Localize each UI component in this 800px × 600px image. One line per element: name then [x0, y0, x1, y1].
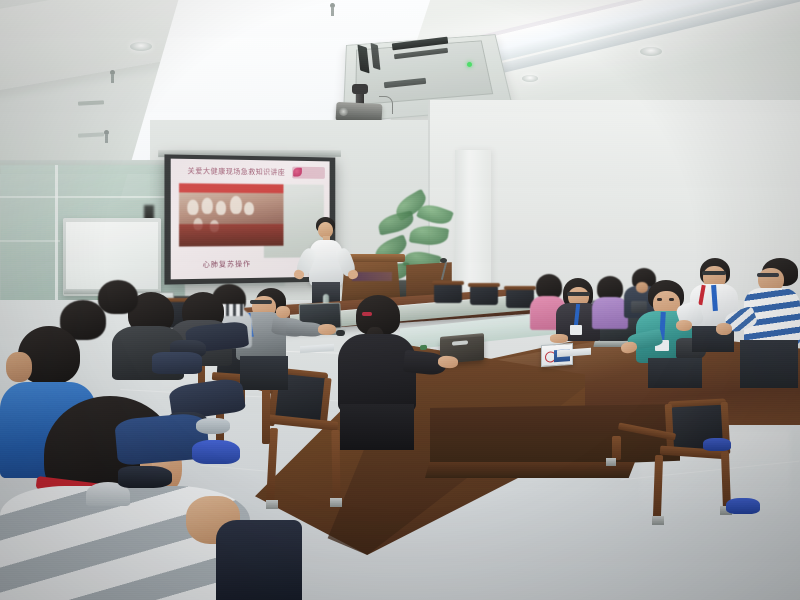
chair-foot-cap: [266, 500, 278, 509]
smartphone[interactable]: [631, 301, 647, 313]
chair-foot-cap: [330, 498, 342, 507]
conference-room-photo: 关爱大健康现场急救知识讲座 心肺复苏操作: [0, 0, 800, 600]
glass-mullion: [0, 196, 185, 198]
whiteboard: [66, 222, 158, 289]
attendee-sandal: [192, 440, 240, 464]
attendee-face: [6, 352, 32, 382]
attendee-sandal-strap: [196, 418, 230, 434]
glass-mullion: [0, 240, 60, 242]
sprinkler-icon: [104, 130, 109, 135]
attendee-hand: [318, 324, 336, 335]
attendee-eye: [669, 298, 674, 301]
attendee-sandal: [703, 438, 731, 451]
downlight-icon: [522, 75, 538, 82]
chair-back[interactable]: [434, 283, 462, 303]
attendee-trousers: [240, 356, 288, 390]
chair-top-rail: [468, 283, 500, 287]
glasses-icon: [702, 271, 726, 275]
attendee-hand: [276, 306, 290, 318]
attendee-hand: [716, 323, 732, 335]
projector-mount-knob: [352, 84, 368, 94]
attendee-trousers: [740, 340, 798, 388]
attendee-hair: [98, 280, 138, 314]
attendee-trousers: [648, 358, 702, 388]
attendee-shoe: [118, 466, 172, 488]
chair-top-rail: [432, 281, 464, 285]
attendee-hand: [550, 334, 568, 343]
attendee-arm: [286, 321, 323, 337]
small-object: [420, 345, 427, 350]
glasses-icon: [250, 300, 272, 304]
microphone-head-icon: [440, 258, 447, 263]
chair-leg: [262, 382, 270, 444]
presenter-shirt: [309, 240, 343, 286]
table-apron: [430, 404, 680, 470]
chair-foot-cap: [652, 516, 664, 525]
slide-caption: 心肺复苏操作: [181, 259, 272, 270]
downlight-icon: [640, 47, 662, 56]
attendee-collar: [222, 304, 244, 316]
attendee-lap: [216, 520, 302, 600]
attendee-lower-body: [340, 404, 414, 450]
slide-title: 关爱大健康现场急救知识讲座: [177, 167, 295, 178]
attendee-purple-top: [592, 297, 628, 329]
attendee-black-top: [338, 334, 416, 412]
attendee-hand: [676, 320, 692, 331]
attendee-leg: [152, 352, 202, 374]
attendee-hand: [636, 282, 648, 293]
projector-cable: [379, 96, 393, 114]
attendee-eye: [657, 298, 662, 301]
chair-foot-cap: [606, 458, 616, 466]
slide-photo-primary: [179, 183, 283, 246]
table-base-plinth: [425, 462, 635, 478]
chair-top-rail: [504, 286, 536, 290]
attendee-sandal: [726, 498, 760, 514]
downlight-icon: [130, 42, 152, 51]
id-badge: [570, 325, 582, 335]
attendee-hand: [438, 355, 459, 368]
chair-arm-support: [612, 436, 621, 460]
glasses-icon: [567, 292, 590, 296]
sprinkler-icon: [330, 3, 335, 8]
computer-mouse[interactable]: [336, 330, 345, 336]
ac-status-led: [467, 62, 472, 67]
glasses-icon: [757, 273, 779, 277]
sprinkler-icon: [110, 70, 115, 75]
chair-back[interactable]: [470, 285, 498, 305]
slide-logo-icon: [292, 167, 325, 179]
hair-tie: [362, 312, 372, 316]
